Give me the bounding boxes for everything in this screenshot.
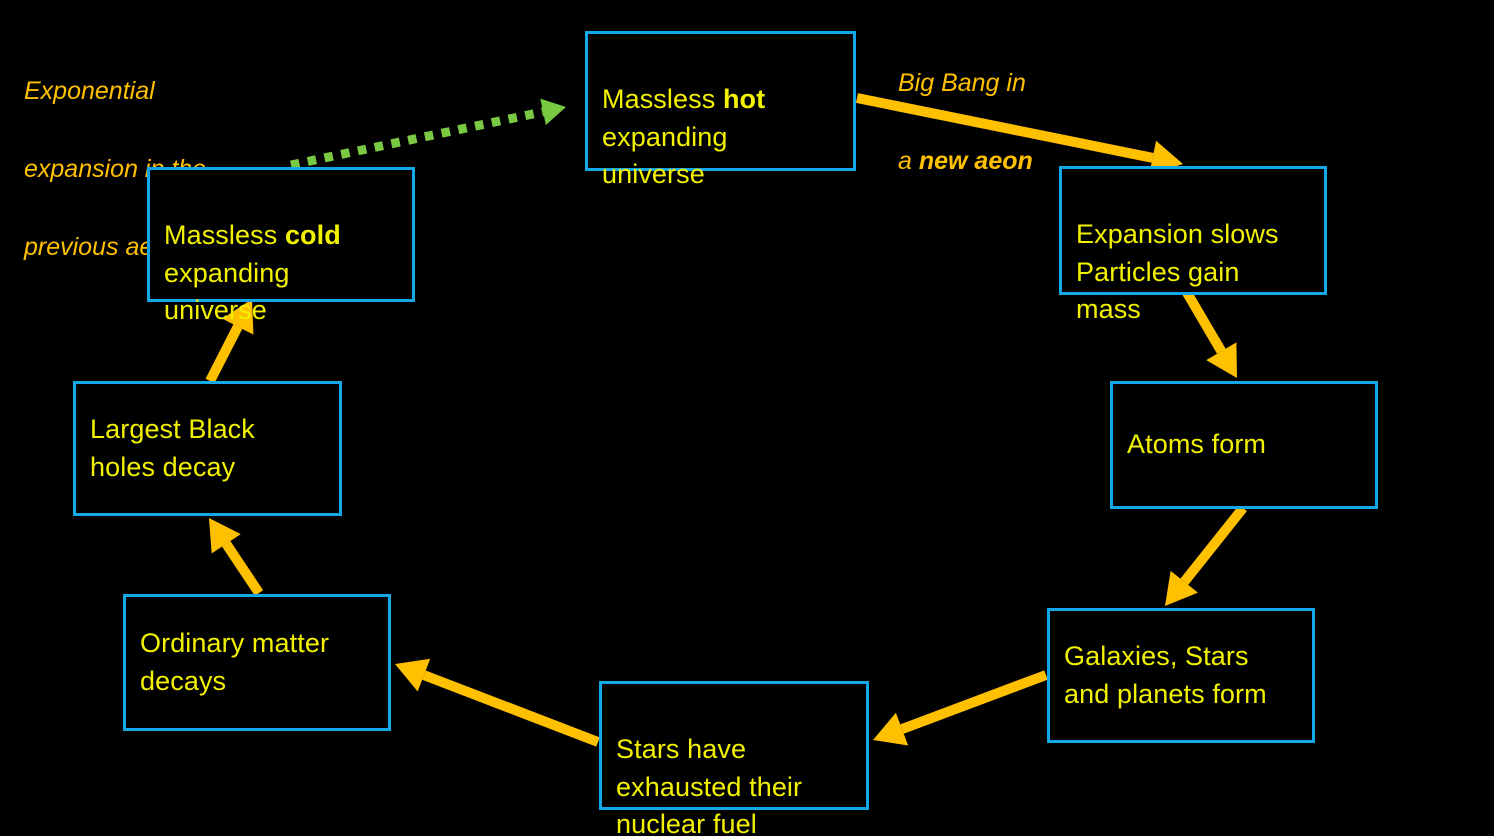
node-atoms-form[interactable]: Atoms form [1110, 381, 1378, 509]
node-text-rest: Atoms form [1127, 426, 1375, 464]
node-largest-black-holes-decay[interactable]: Largest Black holes decay [73, 381, 342, 516]
caption-line-2-emphasis: new aeon [919, 147, 1033, 175]
node-stars-exhausted[interactable]: Stars have exhausted their nuclear fuel [599, 681, 869, 810]
node-text-emphasis: hot [723, 84, 765, 114]
node-galaxies-stars-planets[interactable]: Galaxies, Stars and planets form [1047, 608, 1315, 743]
node-massless-hot[interactable]: Massless hot expanding universe [585, 31, 856, 171]
arrow-stars-to-ordinary-matter [395, 659, 598, 742]
diagram-canvas: Exponential expansion in the previous ae… [0, 0, 1494, 836]
node-ordinary-matter-decays[interactable]: Ordinary matter decays [123, 594, 391, 731]
node-text-rest: Ordinary matter decays [140, 625, 388, 701]
arrow-expansion-to-atoms [1186, 291, 1237, 378]
arrow-ordinary-matter-to-black-holes [209, 518, 259, 593]
arrow-atoms-to-galaxies [1165, 508, 1243, 606]
node-expansion-slows[interactable]: Expansion slows Particles gain mass [1059, 166, 1327, 295]
node-text-prefix: Massless [164, 220, 285, 250]
node-text-rest: Stars have exhausted their nuclear fuel [616, 734, 802, 836]
node-massless-cold[interactable]: Massless cold expanding universe [147, 167, 415, 302]
node-text-prefix: Massless [602, 84, 723, 114]
caption-line-2-plain: a [898, 147, 919, 175]
node-text-rest: Galaxies, Stars and planets form [1064, 638, 1312, 714]
node-text-rest: Expansion slows Particles gain mass [1076, 219, 1279, 325]
arrow-cold-to-hot [291, 99, 566, 165]
caption-line-1: Big Bang in [898, 69, 1026, 97]
node-text-rest: expanding universe [602, 122, 728, 190]
node-text-emphasis: cold [285, 220, 341, 250]
node-text-rest: expanding universe [164, 258, 290, 326]
caption-line-1: Exponential [24, 77, 155, 105]
node-text-rest: Largest Black holes decay [90, 411, 339, 487]
arrow-galaxies-to-stars [873, 675, 1046, 745]
caption-new-aeon: Big Bang in a new aeon [898, 25, 1033, 181]
